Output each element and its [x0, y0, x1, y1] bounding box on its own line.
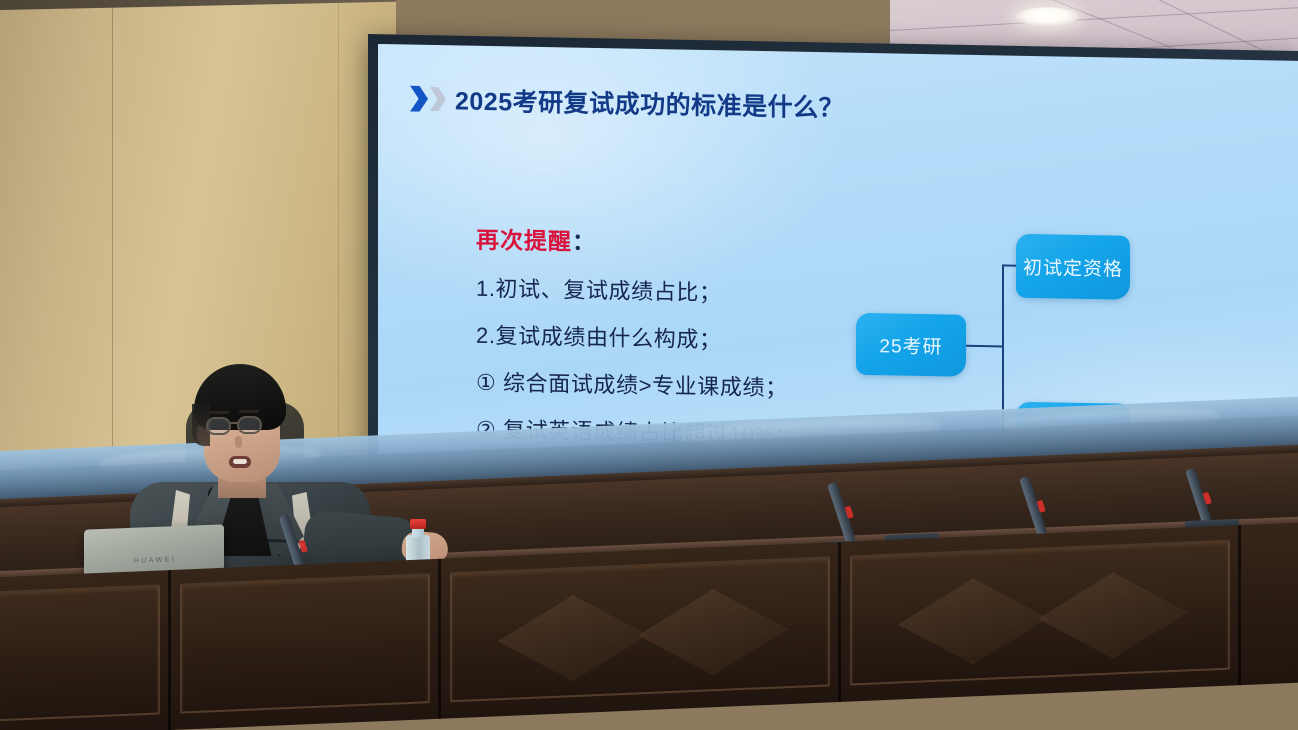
presenter-eyebrow-left [209, 411, 229, 414]
chevron-right-icon-secondary [430, 87, 446, 111]
presenter-teeth [233, 459, 247, 464]
ceiling-light-icon [1016, 7, 1078, 26]
presenter-nose [235, 436, 242, 448]
reminder-heading: 再次提醒： [476, 221, 797, 261]
panel-section-2 [180, 573, 430, 713]
glasses-bridge-icon [230, 422, 238, 424]
connector-root-trunk [966, 345, 1004, 348]
reminder-heading-text: 再次提醒 [476, 227, 572, 255]
panel-diamond-2 [638, 586, 788, 678]
mindmap-node-root[interactable]: 25考研 [856, 313, 966, 377]
panel-seam-2 [438, 559, 441, 719]
panel-diamond-3 [898, 575, 1048, 667]
slide-title-row: 2025考研复试成功的标准是什么？ [410, 81, 844, 125]
reminder-line-3: ① 综合面试成绩>专业课成绩； [476, 365, 797, 403]
slide-title: 2025考研复试成功的标准是什么？ [455, 81, 844, 124]
panel-seam-4 [1238, 525, 1241, 685]
panel-section-3 [450, 556, 830, 702]
panel-section-1 [0, 584, 160, 722]
presenter-eyebrow-right [239, 410, 259, 413]
panel-diamond-4 [1038, 569, 1188, 661]
glasses-lens-left-icon [206, 417, 231, 435]
chevron-group [410, 86, 446, 113]
conference-room-scene: 2025考研复试成功的标准是什么？ 再次提醒： 1.初试、复试成绩占比； 2.复… [0, 0, 1298, 730]
reminder-line-2: 2.复试成绩由什么构成； [476, 318, 797, 356]
bottle-neck [412, 528, 424, 537]
panel-section-4 [850, 540, 1230, 686]
panel-seam-1 [168, 570, 171, 730]
glasses-lens-right-icon [237, 416, 262, 434]
chevron-right-icon-primary [410, 86, 428, 112]
reminder-heading-colon: ： [572, 229, 596, 255]
panel-seam-3 [838, 542, 841, 702]
reminder-line-1: 1.初试、复试成绩占比； [476, 271, 797, 309]
laptop-brand-logo: HUAWEI [124, 556, 186, 565]
bottle-cap [410, 519, 426, 529]
mindmap-node-branch-1[interactable]: 初试定资格 [1016, 234, 1130, 300]
panel-diamond-1 [498, 592, 648, 684]
